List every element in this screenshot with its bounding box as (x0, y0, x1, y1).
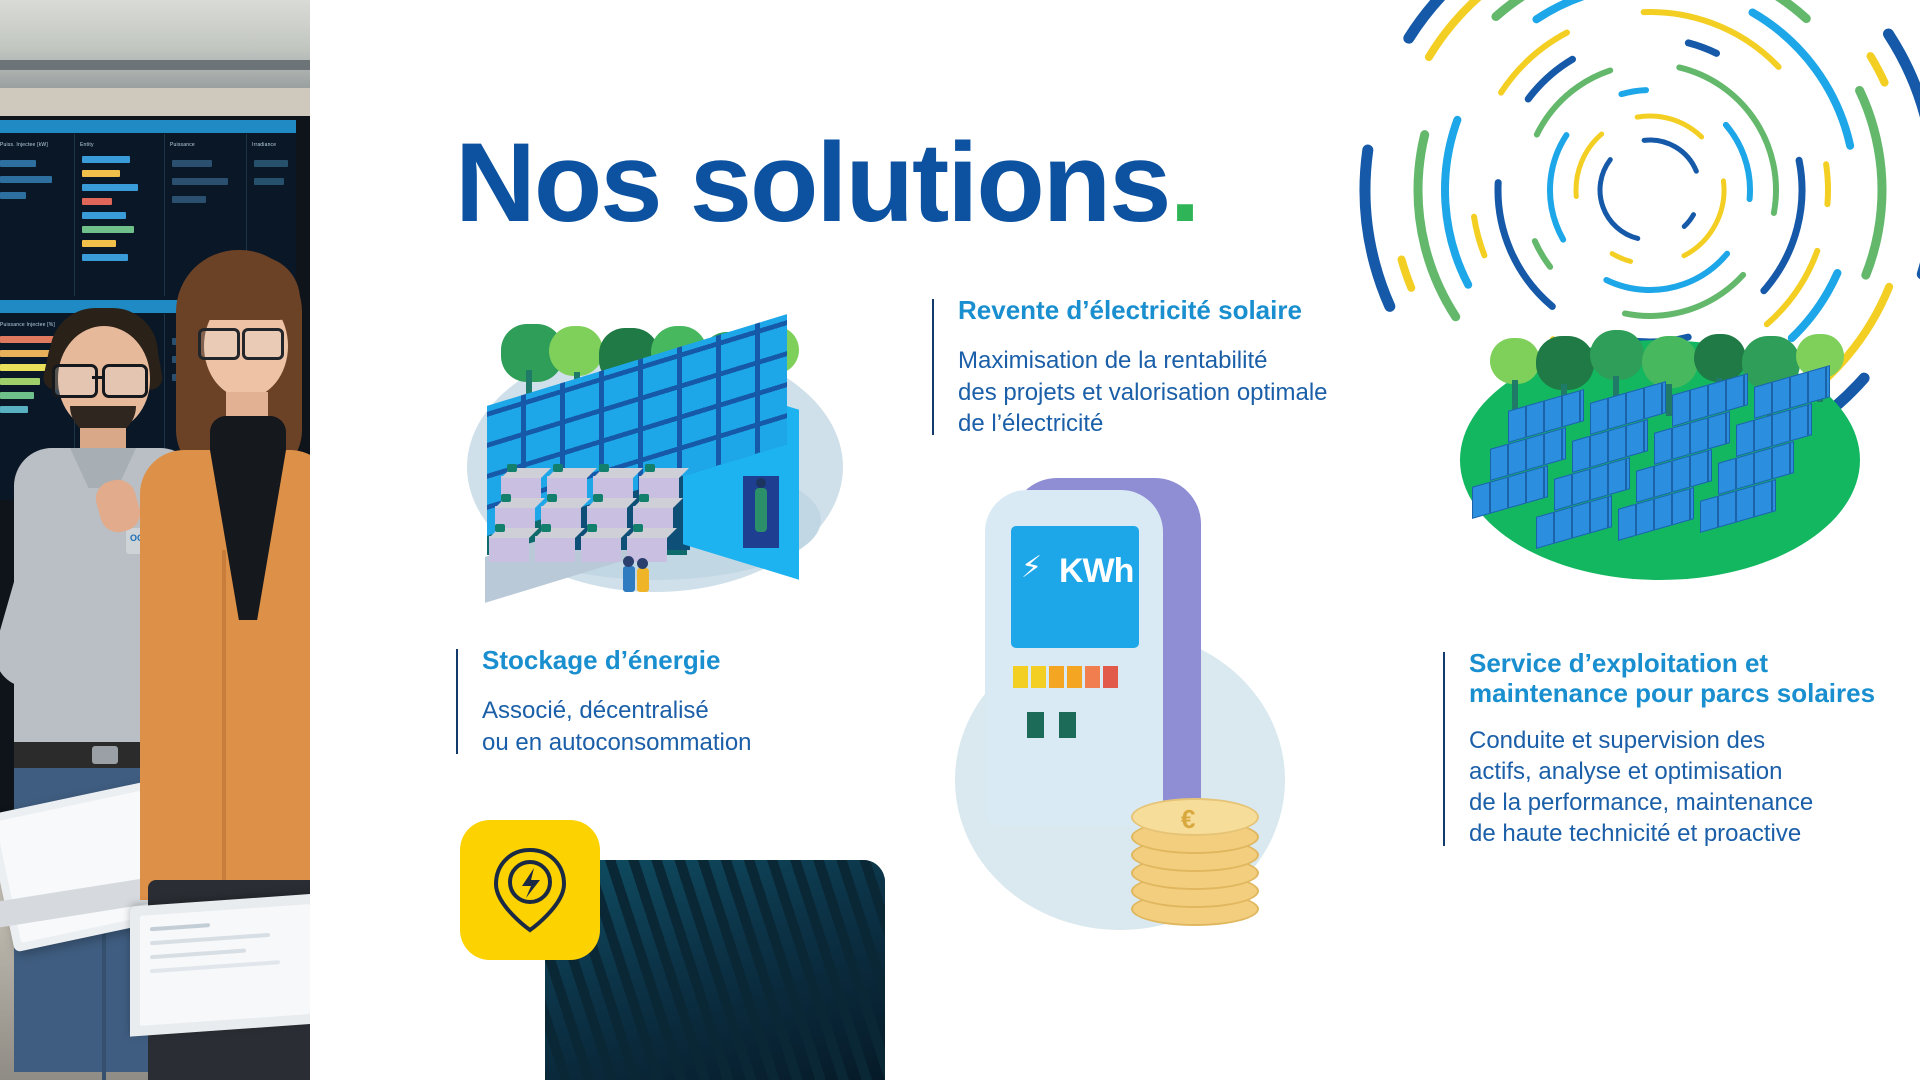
feature-title-resale: Revente d’électricité solaire (958, 295, 1408, 325)
lightning-bolt-icon: ⚡ (1021, 550, 1042, 585)
feature-block-resale: Revente d’électricité solaire Maximisati… (932, 295, 1408, 439)
laptop-on-desk (130, 893, 310, 1036)
feature-body-service: Conduite et supervision des actifs, anal… (1469, 725, 1889, 850)
meter-reading-label: KWh (1059, 552, 1133, 591)
euro-symbol: € (1181, 804, 1195, 835)
page-title-text: Nos solutions (455, 120, 1169, 245)
solar-park-illustration (1450, 280, 1870, 580)
page-title: Nos solutions. (455, 127, 1199, 239)
worker-figure (755, 488, 767, 532)
energy-location-pin-icon (486, 844, 574, 936)
photo-strip: Puiss. Injectee [kW] Entity Puissance Ir… (0, 0, 310, 1080)
ceiling (0, 0, 310, 88)
feature-body-storage: Associé, décentralisé ou en autoconsomma… (482, 695, 822, 757)
feature-title-storage: Stockage d’énergie (482, 645, 822, 675)
feature-title-service: Service d’exploitation et maintenance po… (1469, 648, 1889, 709)
battery-storage-illustration (455, 280, 855, 600)
feature-body-resale: Maximisation de la rentabilité des proje… (958, 345, 1408, 439)
feature-block-storage: Stockage d’énergie Associé, décentralisé… (456, 645, 822, 758)
electricity-meter-illustration: ⚡ KWh € (955, 470, 1375, 940)
eyeglasses-left-2 (198, 328, 240, 360)
wall-strip (0, 88, 310, 116)
feature-block-service: Service d’exploitation et maintenance po… (1443, 648, 1889, 850)
slide-canvas: Puiss. Injectee [kW] Entity Puissance Ir… (0, 0, 1920, 1080)
screen-header (0, 120, 296, 133)
euro-coin-stack: € (1131, 788, 1281, 928)
energy-badge (460, 820, 600, 960)
title-accent-dot: . (1169, 120, 1198, 245)
eyeglasses-right-2 (242, 328, 284, 360)
eyeglasses-left (52, 364, 98, 398)
